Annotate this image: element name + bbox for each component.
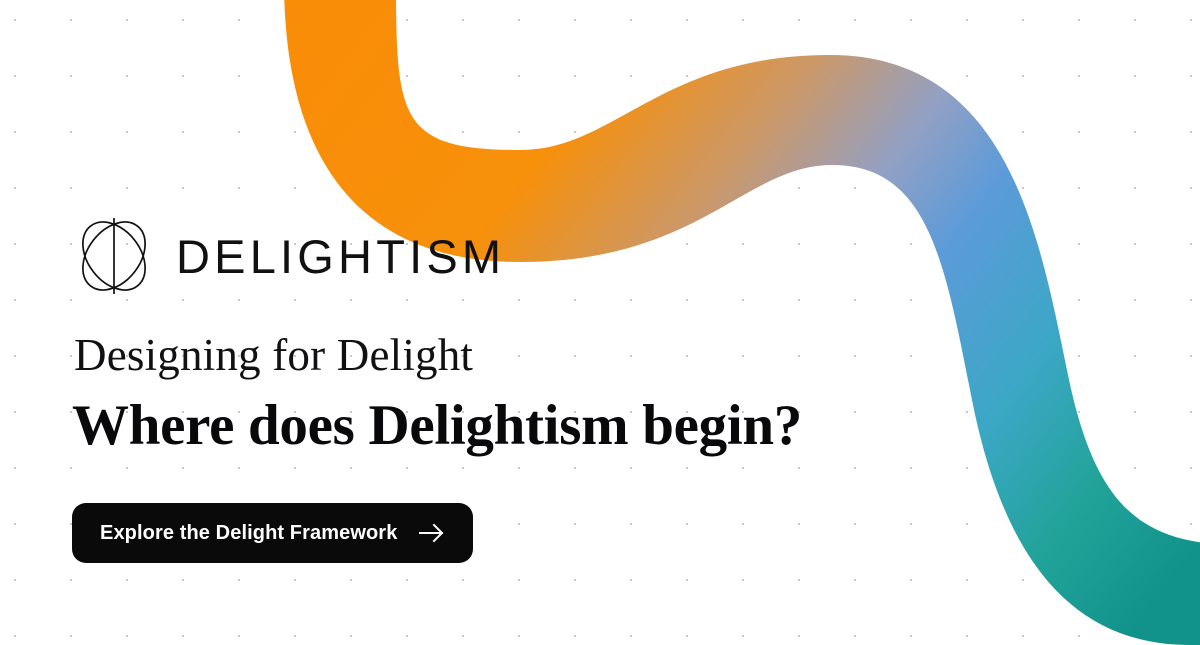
hero-content: DELIGHTISM Designing for Delight Where d… xyxy=(72,0,992,645)
brand-logo-lockup[interactable]: DELIGHTISM xyxy=(72,216,505,296)
hero-headline: Where does Delightism begin? xyxy=(72,396,802,456)
hero-eyebrow: Designing for Delight xyxy=(74,332,473,379)
brand-wordmark: DELIGHTISM xyxy=(176,233,505,280)
arrow-right-icon xyxy=(419,522,445,544)
hero-banner: DELIGHTISM Designing for Delight Where d… xyxy=(0,0,1200,645)
cta-label: Explore the Delight Framework xyxy=(100,522,397,545)
explore-delight-framework-button[interactable]: Explore the Delight Framework xyxy=(72,503,473,563)
overlapping-ellipses-logo-icon xyxy=(72,216,156,296)
